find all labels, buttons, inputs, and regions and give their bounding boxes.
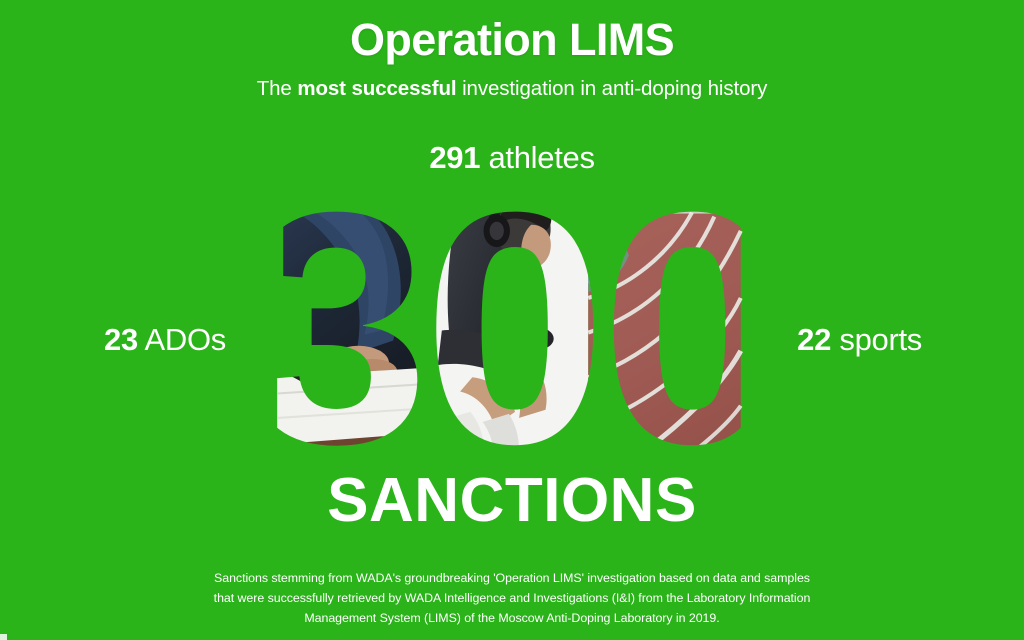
caption-line-1: Sanctions stemming from WADA's groundbre… bbox=[147, 568, 877, 588]
subtitle-emphasis: most successful bbox=[297, 77, 456, 100]
subtitle-pre: The bbox=[257, 77, 298, 100]
hero-number-group: 300 bbox=[0, 178, 1024, 483]
caption-line-3: Management System (LIMS) of the Moscow A… bbox=[147, 608, 877, 628]
page-subtitle: The most successful investigation in ant… bbox=[0, 77, 1024, 102]
hero-headline: SANCTIONS bbox=[0, 470, 1024, 532]
infographic-poster: Operation LIMS The most successful inves… bbox=[0, 0, 1024, 640]
caption: Sanctions stemming from WADA's groundbre… bbox=[147, 568, 877, 628]
page-title: Operation LIMS bbox=[0, 16, 1024, 65]
caption-line-2: that were successfully retrieved by WADA… bbox=[147, 588, 877, 608]
subtitle-post: investigation in anti-doping history bbox=[456, 77, 767, 100]
corner-artifact bbox=[0, 634, 7, 640]
header: Operation LIMS The most successful inves… bbox=[0, 0, 1024, 101]
hero-big-number: 300 bbox=[0, 178, 1024, 483]
